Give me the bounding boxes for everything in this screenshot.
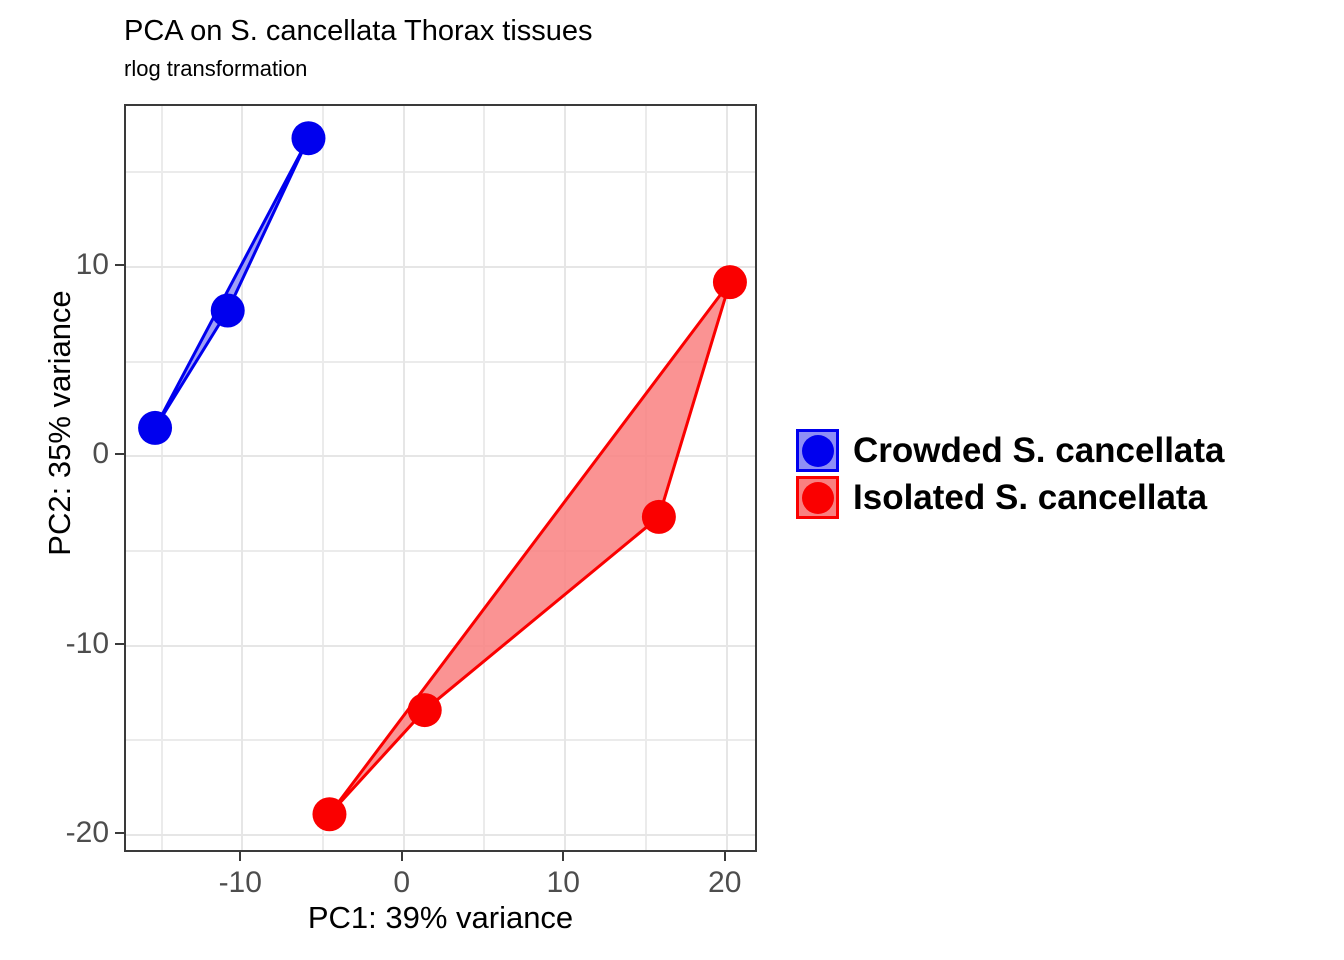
- x-tick-mark: [239, 852, 241, 861]
- data-point[interactable]: [713, 265, 747, 299]
- legend-item[interactable]: Isolated S. cancellata: [796, 474, 1225, 521]
- y-tick-mark: [115, 643, 124, 645]
- legend-item[interactable]: Crowded S. cancellata: [796, 427, 1225, 474]
- x-tick-mark: [401, 852, 403, 861]
- x-tick-label: 0: [393, 866, 410, 900]
- x-axis-title: PC1: 39% variance: [124, 900, 757, 936]
- data-point[interactable]: [408, 693, 442, 727]
- legend-item-label: Crowded S. cancellata: [853, 431, 1225, 471]
- page-title: PCA on S. cancellata Thorax tissues: [124, 14, 593, 48]
- pca-plot-figure: PCA on S. cancellata Thorax tissues rlog…: [0, 0, 1344, 960]
- legend-key-point-icon: [802, 482, 834, 514]
- y-tick-label: -20: [66, 816, 109, 850]
- x-tick-label: 20: [708, 866, 741, 900]
- plot-panel-wrapper: [124, 104, 757, 852]
- y-tick-mark: [115, 832, 124, 834]
- legend-key-swatch: [796, 476, 839, 519]
- x-tick-mark: [562, 852, 564, 861]
- legend-item-label: Isolated S. cancellata: [853, 478, 1207, 518]
- plot-subtitle: rlog transformation: [124, 56, 307, 82]
- data-point[interactable]: [138, 411, 172, 445]
- y-tick-mark: [115, 453, 124, 455]
- y-tick-label: 0: [92, 437, 109, 471]
- series-hull-polygon: [329, 282, 729, 814]
- legend-key-point-icon: [802, 435, 834, 467]
- legend: Crowded S. cancellataIsolated S. cancell…: [796, 427, 1225, 521]
- series-hull-polygon: [155, 138, 308, 428]
- legend-key-swatch: [796, 429, 839, 472]
- plot-panel: [124, 104, 757, 852]
- data-layer: [126, 106, 757, 852]
- data-point[interactable]: [291, 121, 325, 155]
- data-point[interactable]: [211, 294, 245, 328]
- y-tick-mark: [115, 264, 124, 266]
- x-tick-label: 10: [547, 866, 580, 900]
- data-point[interactable]: [312, 797, 346, 831]
- data-point[interactable]: [642, 500, 676, 534]
- y-axis-title: PC2: 35% variance: [42, 113, 78, 733]
- series-group-0: [138, 121, 325, 445]
- x-tick-mark: [724, 852, 726, 861]
- y-tick-label: 10: [76, 248, 109, 282]
- x-tick-label: -10: [219, 866, 262, 900]
- series-group-1: [312, 265, 746, 831]
